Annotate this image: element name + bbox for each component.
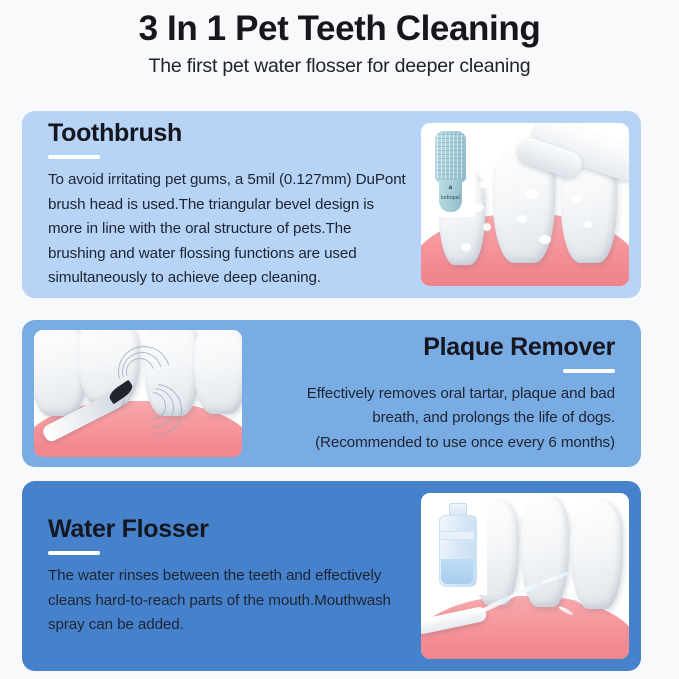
page-subtitle: The first pet water flosser for deeper c… <box>0 55 679 78</box>
card-text-toothbrush: Toothbrush To avoid irritating pet gums,… <box>48 118 421 291</box>
tooth-shape <box>194 330 242 414</box>
card-text-plaque-remover: Plaque Remover Effectively removes oral … <box>242 332 615 456</box>
card-body-toothbrush: To avoid irritating pet gums, a 5mil (0.… <box>48 168 408 291</box>
foam-fleck <box>583 221 592 228</box>
card-body-water-flosser: The water rinses between the teeth and e… <box>48 564 393 638</box>
bottle-label-band <box>440 531 474 540</box>
product-image-toothbrush: ᵃ bobopal <box>421 123 629 286</box>
brand-label: bobopal <box>439 195 462 201</box>
foam-fleck <box>483 223 491 231</box>
foam-fleck <box>461 243 471 251</box>
silicone-brush-head <box>435 131 466 183</box>
foam-fleck <box>571 195 582 203</box>
foam-fleck <box>479 181 488 188</box>
bobopal-logo-icon: ᵃ <box>439 183 462 193</box>
card-heading-toothbrush: Toothbrush <box>48 118 421 148</box>
feature-card-water-flosser: Water Flosser The water rinses between t… <box>22 481 641 671</box>
brush-neck: ᵃ bobopal <box>439 180 462 212</box>
mouthwash-liquid <box>441 559 473 584</box>
page-title: 3 In 1 Pet Teeth Cleaning <box>0 8 679 49</box>
product-inset-brush-head: ᵃ bobopal <box>427 127 475 217</box>
heading-underline-accent <box>48 551 100 555</box>
foam-fleck <box>525 189 539 199</box>
card-body-plaque-remover: Effectively removes oral tartar, plaque … <box>265 382 615 456</box>
heading-underline-accent <box>48 155 100 159</box>
card-heading-water-flosser: Water Flosser <box>48 514 421 544</box>
page-header: 3 In 1 Pet Teeth Cleaning The first pet … <box>0 0 679 78</box>
foam-fleck <box>517 215 527 223</box>
product-image-plaque-remover <box>34 330 242 457</box>
tooth-shape <box>571 499 623 609</box>
feature-card-plaque-remover: Plaque Remover Effectively removes oral … <box>22 320 641 467</box>
feature-card-toothbrush: Toothbrush To avoid irritating pet gums,… <box>22 111 641 298</box>
card-heading-plaque-remover: Plaque Remover <box>242 332 615 362</box>
bristle-texture <box>437 134 464 179</box>
product-image-water-flosser <box>421 493 629 659</box>
foam-fleck <box>539 235 551 244</box>
heading-underline-accent <box>563 369 615 373</box>
product-inset-mouthwash-bottle <box>427 497 487 595</box>
card-text-water-flosser: Water Flosser The water rinses between t… <box>48 514 421 638</box>
